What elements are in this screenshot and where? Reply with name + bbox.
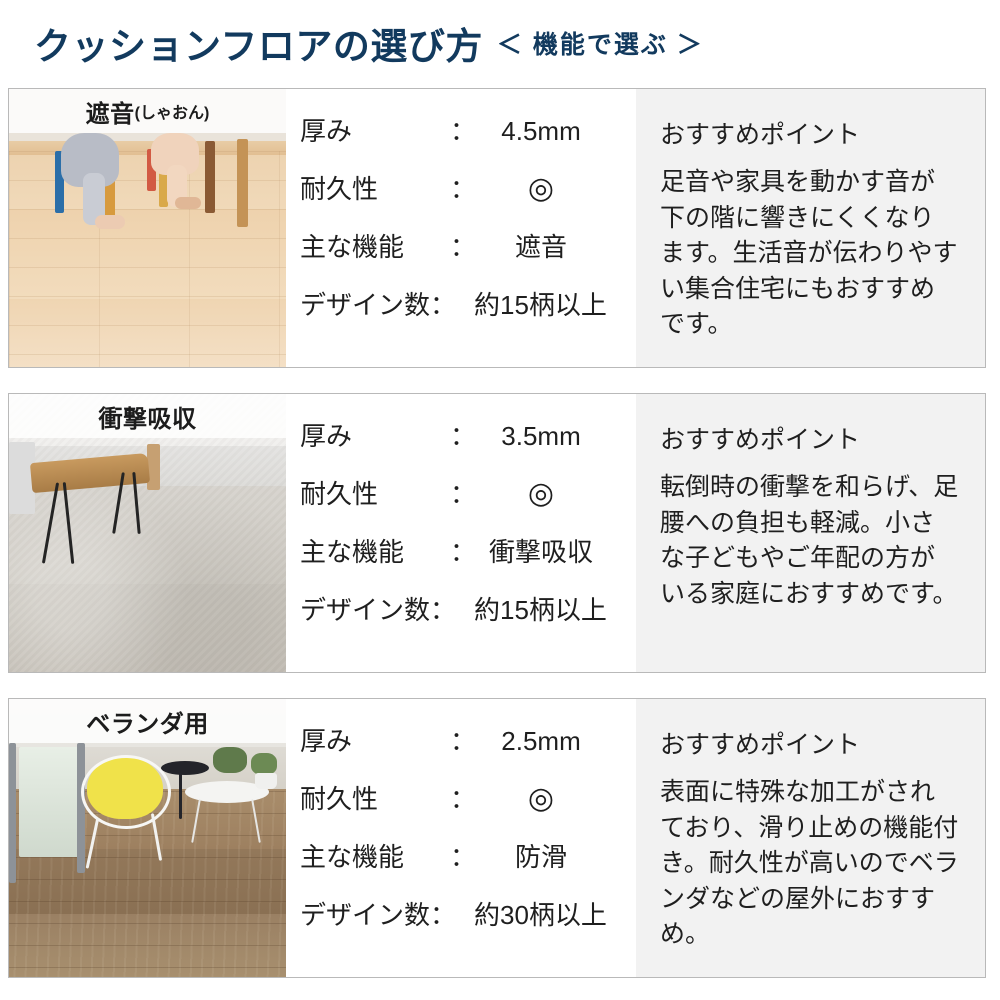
plant-pot-white xyxy=(255,773,277,789)
balcony-railing-post xyxy=(77,743,85,873)
spec-colon: ： xyxy=(450,169,474,206)
spec-row-design-count: デザイン数： 約15柄以上 xyxy=(300,285,636,343)
spec-colon: ： xyxy=(450,837,474,874)
coffee-table-leg-2 xyxy=(251,799,261,843)
spec-label-main-function: 主な機能 xyxy=(300,837,450,874)
card-specs-shaon: 厚み ： 4.5mm 耐久性 ： ◎ 主な機能 ： 遮音 デザイン数： 約15柄… xyxy=(286,89,636,367)
card-description-veranda: おすすめポイント 表面に特殊な加工がされており、滑り止めの機能付き。耐久性が高い… xyxy=(636,699,985,977)
child-foot-right xyxy=(175,197,201,209)
acapulco-chair-frame xyxy=(81,755,171,829)
spec-row-main-function: 主な機能 ： 防滑 xyxy=(300,837,636,895)
spec-label-durability: 耐久性 xyxy=(300,474,450,511)
card-photo-shaon: 遮音 (しゃおん) xyxy=(9,89,286,367)
spec-value-design-count: 約15柄以上 xyxy=(474,590,636,627)
side-table-leg xyxy=(179,773,182,819)
card-label-band-shaon: 遮音 (しゃおん) xyxy=(9,89,286,133)
bench-hairpin-leg-1 xyxy=(42,482,59,563)
spec-row-durability: 耐久性 ： ◎ xyxy=(300,779,636,837)
spec-colon: ： xyxy=(450,416,474,453)
plant-green-1 xyxy=(213,747,247,773)
product-card-shock-absorption: 衝撃吸収 厚み ： 3.5mm 耐久性 ： ◎ 主な機能 ： 衝撃吸収 デザイン… xyxy=(8,393,986,673)
card-label-band-shock-absorption: 衝撃吸収 xyxy=(9,394,286,438)
spec-value-design-count: 約30柄以上 xyxy=(474,895,636,932)
spec-label-durability: 耐久性 xyxy=(300,779,450,816)
card-description-shock-absorption: おすすめポイント 転倒時の衝撃を和らげ、足腰への負担も軽減。小さな子どもやご年配… xyxy=(636,394,985,672)
spec-value-main-function: 遮音 xyxy=(474,227,636,264)
card-label-ruby-shaon: (しゃおん) xyxy=(135,99,210,123)
chair-leg-white-2 xyxy=(151,813,162,861)
infographic-page: クッションフロアの選び方 ＜ 機能で選ぶ ＞ 遮音 xyxy=(0,0,1000,1000)
spec-label-thickness: 厚み xyxy=(300,721,450,758)
spec-value-durability-double-circle-icon: ◎ xyxy=(474,784,636,814)
side-table-black-top xyxy=(161,761,209,775)
spec-label-thickness: 厚み xyxy=(300,416,450,453)
spec-row-main-function: 主な機能 ： 遮音 xyxy=(300,227,636,285)
spec-row-durability: 耐久性 ： ◎ xyxy=(300,474,636,532)
coffee-table-leg-1 xyxy=(191,799,201,843)
card-label-shock-absorption: 衝撃吸収 xyxy=(99,399,197,434)
spec-row-durability: 耐久性 ： ◎ xyxy=(300,169,636,227)
spec-label-design-count: デザイン数： xyxy=(300,895,474,932)
card-description-shaon: おすすめポイント 足音や家具を動かす音が下の階に響きにくくなります。生活音が伝わ… xyxy=(636,89,985,367)
recommend-heading: おすすめポイント xyxy=(660,725,959,761)
balcony-glass-panel xyxy=(19,747,79,857)
spec-label-main-function: 主な機能 xyxy=(300,227,450,264)
table-leg-wood xyxy=(147,444,160,490)
card-label-band-veranda: ベランダ用 xyxy=(9,699,286,743)
spec-colon: ： xyxy=(450,227,474,264)
spec-row-thickness: 厚み ： 2.5mm xyxy=(300,721,636,779)
spec-row-design-count: デザイン数： 約15柄以上 xyxy=(300,590,636,648)
card-label-veranda: ベランダ用 xyxy=(86,704,209,739)
spec-row-design-count: デザイン数： 約30柄以上 xyxy=(300,895,636,953)
page-subtitle: ＜ 機能で選ぶ ＞ xyxy=(497,25,704,61)
recommend-heading: おすすめポイント xyxy=(660,115,959,151)
chair-leg-white-1 xyxy=(86,817,100,868)
spec-value-durability-double-circle-icon: ◎ xyxy=(474,479,636,509)
card-photo-shock-absorption: 衝撃吸収 xyxy=(9,394,286,672)
card-specs-shock-absorption: 厚み ： 3.5mm 耐久性 ： ◎ 主な機能 ： 衝撃吸収 デザイン数： 約1… xyxy=(286,394,636,672)
spec-value-design-count: 約15柄以上 xyxy=(474,285,636,322)
page-title: クッションフロアの選び方 xyxy=(34,16,483,70)
plant-green-2 xyxy=(251,753,277,775)
spec-label-thickness: 厚み xyxy=(300,111,450,148)
bench-hairpin-leg-2 xyxy=(63,482,75,564)
spec-label-design-count: デザイン数： xyxy=(300,590,474,627)
spec-value-thickness: 3.5mm xyxy=(474,421,636,452)
balcony-railing-post-edge xyxy=(9,743,16,883)
spec-value-main-function: 衝撃吸収 xyxy=(474,532,636,569)
spec-colon: ： xyxy=(450,474,474,511)
spec-value-thickness: 2.5mm xyxy=(474,726,636,757)
card-specs-veranda: 厚み ： 2.5mm 耐久性 ： ◎ 主な機能 ： 防滑 デザイン数： 約30柄… xyxy=(286,699,636,977)
table-leg-wood xyxy=(237,139,248,227)
card-label-shaon: 遮音 xyxy=(86,94,135,129)
spec-colon: ： xyxy=(450,532,474,569)
recommend-body: 足音や家具を動かす音が下の階に響きにくくなります。生活音が伝わりやすい集合住宅に… xyxy=(660,165,959,343)
product-card-shaon: 遮音 (しゃおん) 厚み ： 4.5mm 耐久性 ： ◎ 主な機能 ： 遮音 デ… xyxy=(8,88,986,368)
spec-row-main-function: 主な機能 ： 衝撃吸収 xyxy=(300,532,636,590)
spec-row-thickness: 厚み ： 3.5mm xyxy=(300,416,636,474)
card-photo-veranda: ベランダ用 xyxy=(9,699,286,977)
recommend-body: 転倒時の衝撃を和らげ、足腰への負担も軽減。小さな子どもやご年配の方がいる家庭にお… xyxy=(660,470,959,612)
spec-row-thickness: 厚み ： 4.5mm xyxy=(300,111,636,169)
table-leg-brown xyxy=(205,141,215,213)
page-header: クッションフロアの選び方 ＜ 機能で選ぶ ＞ xyxy=(0,0,1000,86)
spec-colon: ： xyxy=(450,779,474,816)
recommend-body: 表面に特殊な加工がされており、滑り止めの機能付き。耐久性が高いのでベランダなどの… xyxy=(660,775,959,953)
spec-label-design-count: デザイン数： xyxy=(300,285,474,322)
spec-value-durability-double-circle-icon: ◎ xyxy=(474,174,636,204)
spec-value-thickness: 4.5mm xyxy=(474,116,636,147)
spec-colon: ： xyxy=(450,111,474,148)
product-card-veranda: ベランダ用 厚み ： 2.5mm 耐久性 ： ◎ 主な機能 ： 防滑 デザイン数… xyxy=(8,698,986,978)
spec-colon: ： xyxy=(450,721,474,758)
spec-value-main-function: 防滑 xyxy=(474,837,636,874)
spec-label-durability: 耐久性 xyxy=(300,169,450,206)
spec-label-main-function: 主な機能 xyxy=(300,532,450,569)
recommend-heading: おすすめポイント xyxy=(660,420,959,456)
child-foot-left xyxy=(95,215,125,229)
